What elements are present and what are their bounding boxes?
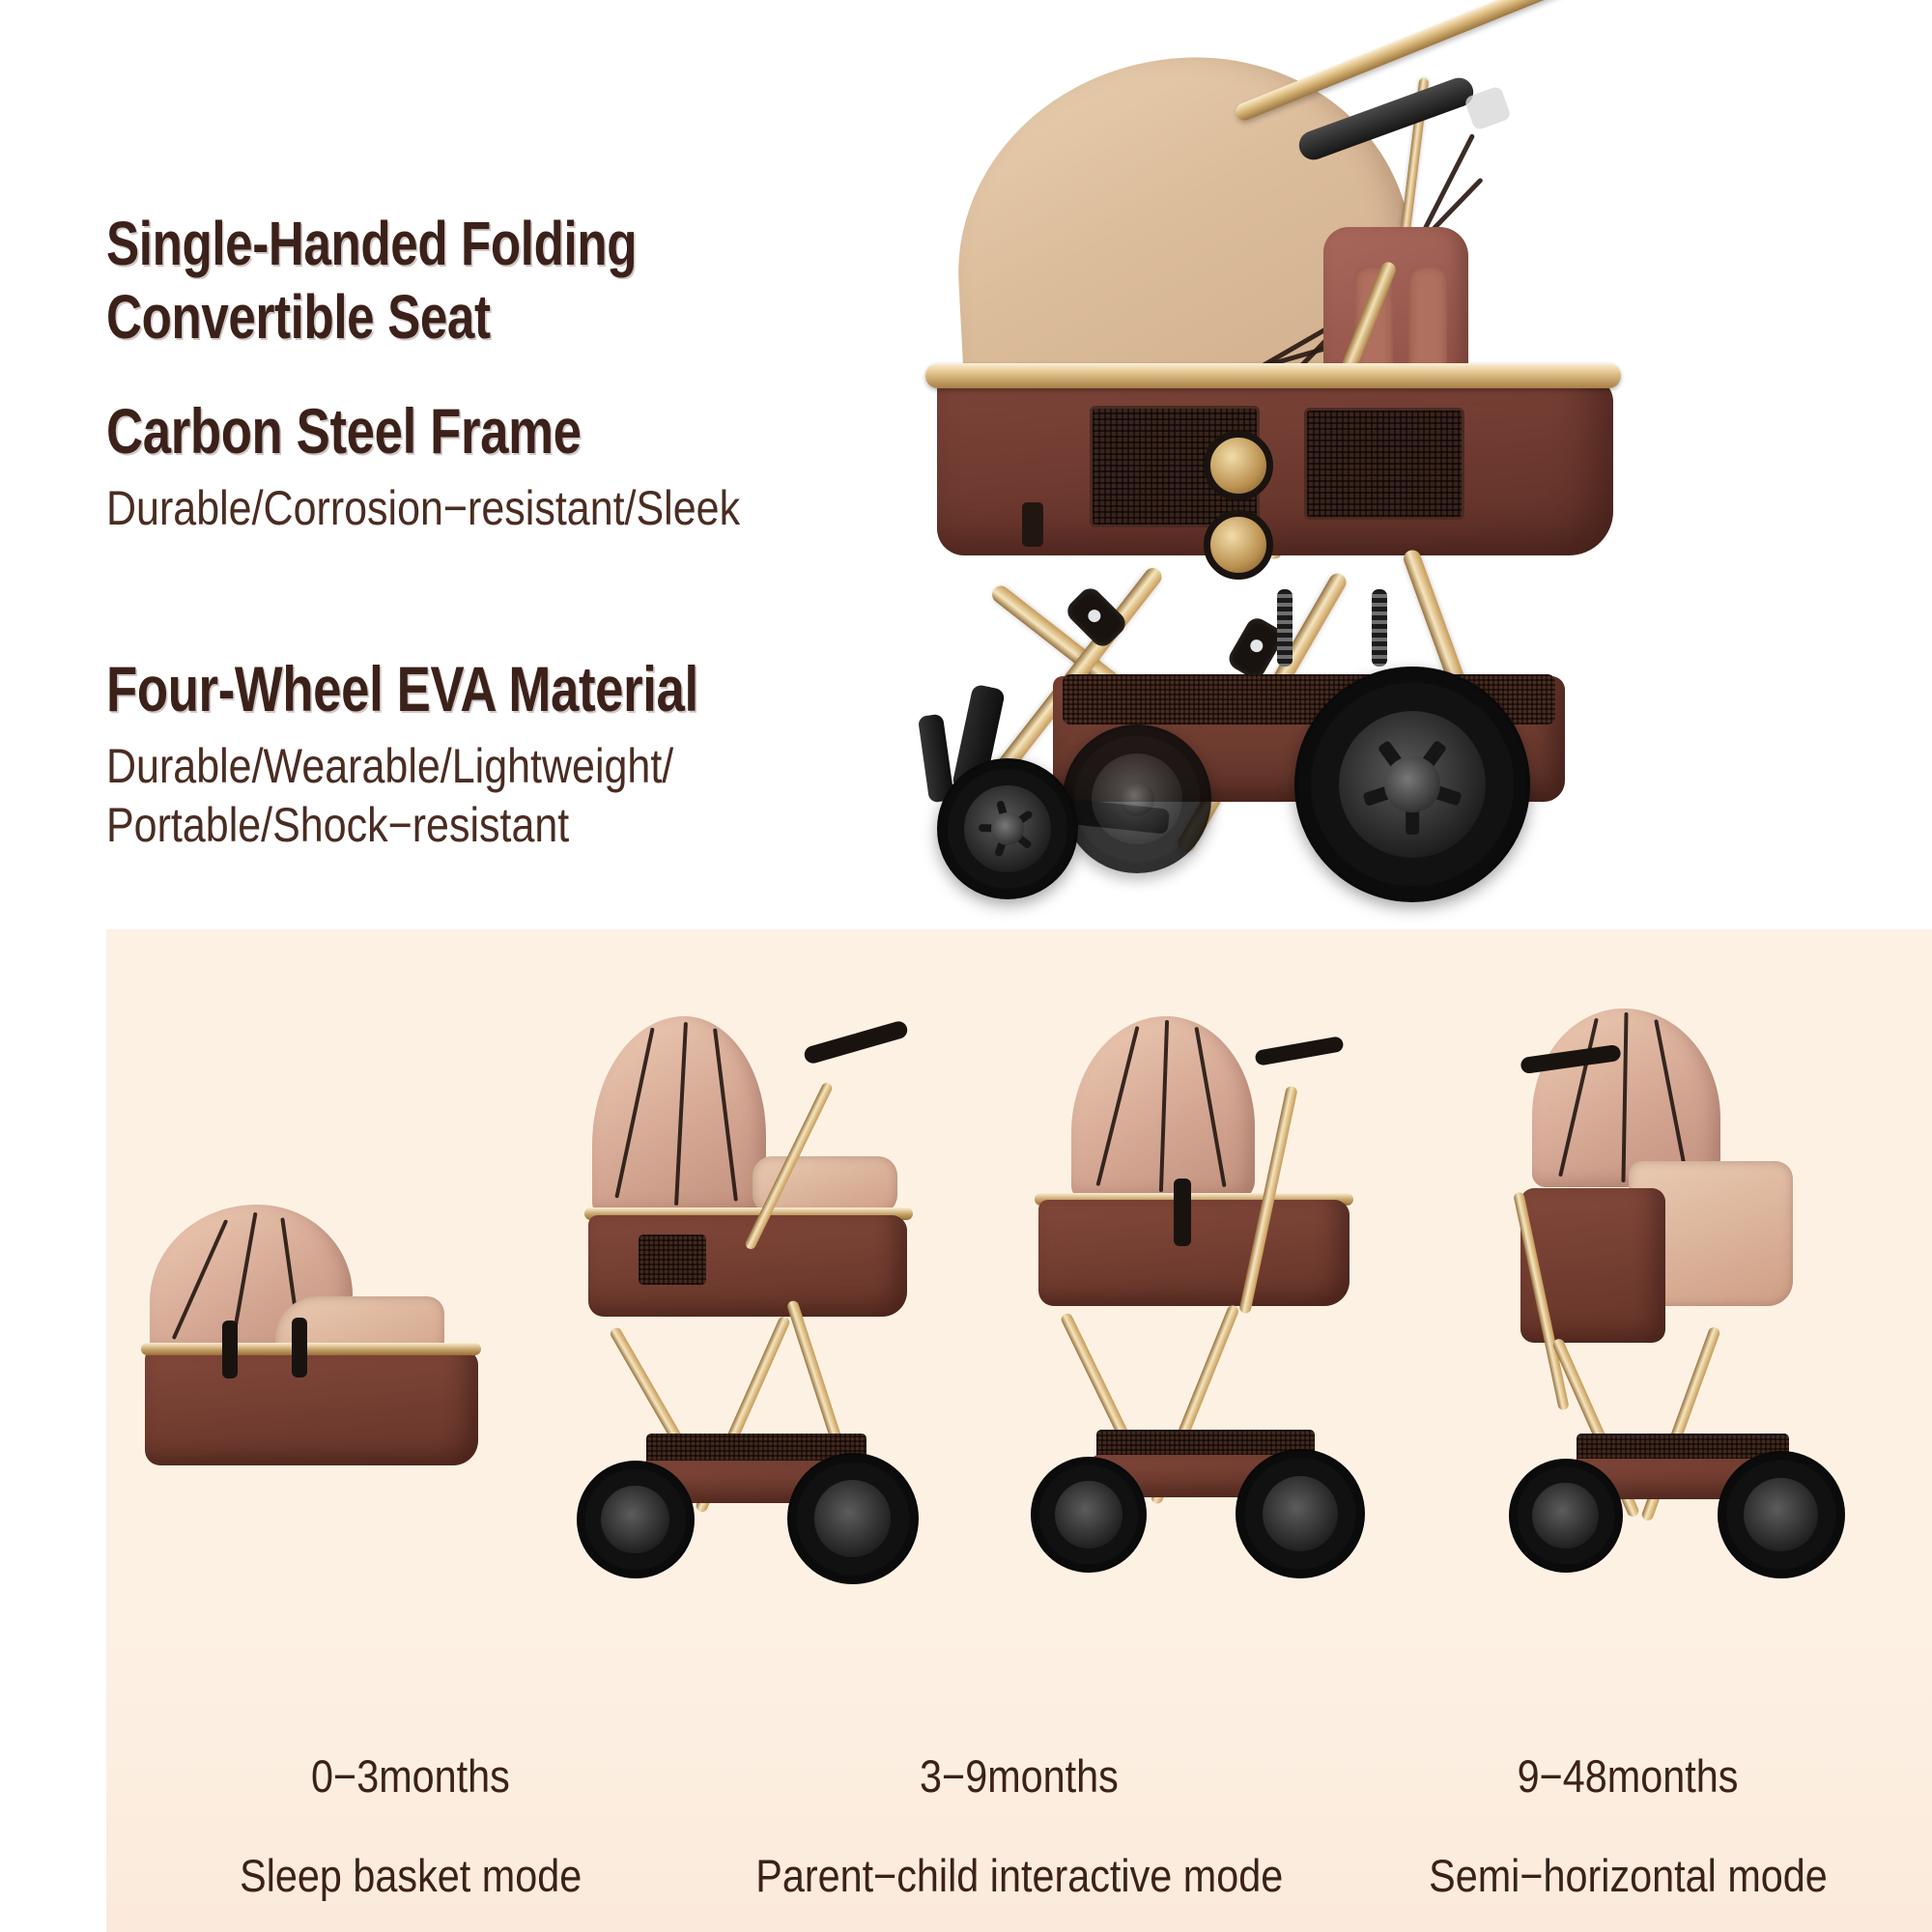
headline-carbon-steel-frame: Carbon Steel Frame [106, 394, 802, 469]
suspension-spring [1277, 589, 1293, 667]
wheel-hubcap [1384, 756, 1439, 811]
spacer-4 [106, 727, 976, 737]
mode-age-range: 9−48months [1518, 1746, 1739, 1806]
mode-label: Semi−horizontal mode [1429, 1845, 1828, 1906]
mode-age-range: 0−3months [311, 1746, 510, 1806]
wheel-rim [1055, 1481, 1122, 1548]
mini-latch [1174, 1179, 1191, 1246]
mode-captions-row: 0−3months Sleep basket mode 3−9months Pa… [106, 1746, 1932, 1907]
mini-rear-wheel [1236, 1449, 1365, 1578]
mode-label: Sleep basket mode [240, 1845, 582, 1906]
headline-folding-line1: Single-Handed Folding [106, 208, 802, 281]
mode-caption-parent-child: 3−9months Parent−child interactive mode [715, 1746, 1323, 1907]
mini-gold-rail [141, 1343, 481, 1355]
rear-wheel-far [1063, 724, 1211, 873]
mode-images-row [106, 958, 1932, 1721]
wheel-hubcap [1120, 781, 1154, 816]
mode-cell-parent-child [563, 958, 1020, 1721]
mini-rear-wheel [787, 1453, 919, 1584]
wheel-rim [1532, 1483, 1598, 1548]
mini-rear-wheel [1718, 1451, 1845, 1578]
suspension-spring [1372, 589, 1387, 667]
frame-hub-knob [1204, 431, 1273, 500]
mini-front-wheel [577, 1461, 695, 1578]
mode-label: Parent−child interactive mode [755, 1845, 1283, 1906]
subtitle-frame-benefits: Durable/Corrosion−resistant/Sleek [106, 479, 854, 538]
mode-caption-semi-horizontal: 9−48months Semi−horizontal mode [1323, 1746, 1932, 1907]
frame-hub-knob [1204, 510, 1273, 580]
wheel-rim [1744, 1478, 1818, 1552]
subtitle-wheel-benefits-line1: Durable/Wearable/Lightweight/ [106, 737, 854, 796]
mini-handle-grip [802, 1019, 909, 1065]
mini-bassinet-body [588, 1215, 907, 1317]
mini-handle-grip [1254, 1036, 1344, 1066]
bassinet-latch [1022, 502, 1043, 547]
mini-mesh-window [639, 1235, 706, 1285]
mode-age-range: 3−9months [920, 1746, 1119, 1806]
mini-latch [292, 1318, 307, 1378]
wheel-rim [1263, 1476, 1338, 1551]
mode-cell-sleep-basket [106, 958, 563, 1721]
mini-bassinet-body [145, 1350, 478, 1465]
mini-bassinet-body [1038, 1200, 1350, 1306]
headline-folding-line2: Convertible Seat [106, 281, 802, 355]
mode-cell-forward-facing [1019, 958, 1476, 1721]
feature-text-block: Single-Handed Folding Convertible Seat C… [106, 208, 976, 855]
rear-wheel [1294, 667, 1530, 902]
joint-rivet [1086, 607, 1103, 624]
wheel-rim [814, 1480, 891, 1556]
mini-front-wheel [1509, 1459, 1623, 1573]
usage-modes-panel: 0−3months Sleep basket mode 3−9months Pa… [106, 929, 1932, 1932]
wheel-rim [601, 1486, 669, 1554]
front-wheel [937, 758, 1078, 899]
mode-cell-semi-horizontal [1476, 958, 1932, 1721]
mode-caption-sleep-basket: 0−3months Sleep basket mode [106, 1746, 715, 1907]
wheel-hubcap [991, 812, 1024, 845]
spacer-2 [106, 469, 976, 479]
bassinet-gold-rail [925, 363, 1621, 388]
headline-four-wheel-eva: Four-Wheel EVA Material [106, 652, 802, 727]
product-feature-page: Single-Handed Folding Convertible Seat C… [0, 0, 1932, 1932]
spacer-1 [106, 354, 976, 394]
spacer-3 [106, 538, 976, 652]
hero-stroller-image [918, 48, 1893, 918]
subtitle-wheel-benefits-line2: Portable/Shock−resistant [106, 796, 854, 855]
mini-front-wheel [1031, 1457, 1147, 1573]
joint-rivet [1248, 638, 1265, 655]
mini-latch [222, 1321, 238, 1378]
bassinet-mesh-window [1304, 408, 1464, 520]
